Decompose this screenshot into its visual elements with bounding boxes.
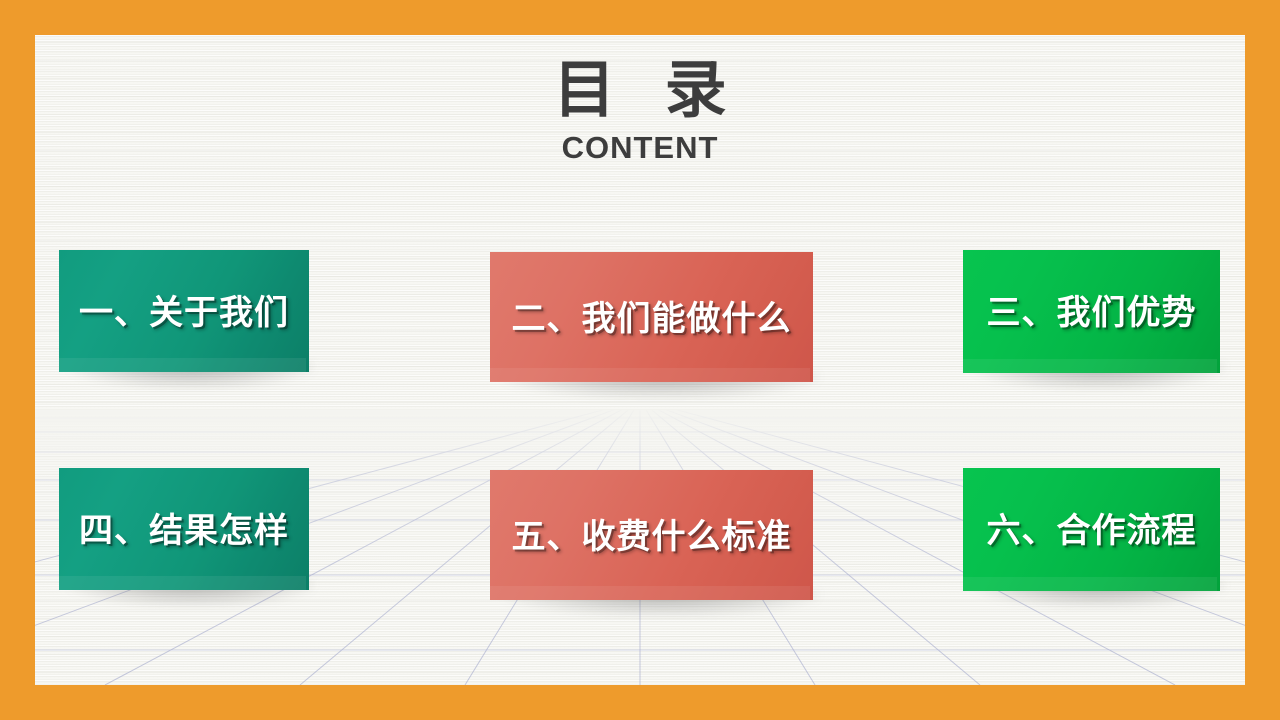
toc-item-6-ledge <box>963 577 1217 591</box>
toc-item-3-ledge <box>963 359 1217 373</box>
toc-item-4[interactable]: 四、结果怎样 <box>59 468 309 590</box>
toc-item-4-ledge <box>59 576 306 590</box>
toc-item-3-face: 三、我们优势 <box>963 250 1220 373</box>
toc-item-2[interactable]: 二、我们能做什么 <box>490 252 813 382</box>
toc-item-1-label: 一、关于我们 <box>79 285 289 334</box>
toc-item-6[interactable]: 六、合作流程 <box>963 468 1220 591</box>
toc-item-2-face: 二、我们能做什么 <box>490 252 813 382</box>
toc-item-6-label: 六、合作流程 <box>987 503 1197 552</box>
toc-item-4-label: 四、结果怎样 <box>79 503 289 552</box>
title-block: 目 录 CONTENT <box>35 55 1245 166</box>
toc-item-1[interactable]: 一、关于我们 <box>59 250 309 372</box>
page-subtitle: CONTENT <box>35 130 1245 166</box>
toc-item-1-face: 一、关于我们 <box>59 250 309 372</box>
toc-item-5-ledge <box>490 586 810 600</box>
slide-root: 目 录 CONTENT 一、关于我们 二、我们能做什么 三、我们优势 <box>0 0 1280 720</box>
toc-item-1-ledge <box>59 358 306 372</box>
toc-item-5[interactable]: 五、收费什么标准 <box>490 470 813 600</box>
toc-item-5-label: 五、收费什么标准 <box>512 509 792 558</box>
toc-item-3[interactable]: 三、我们优势 <box>963 250 1220 373</box>
toc-item-3-label: 三、我们优势 <box>987 285 1197 334</box>
toc-item-6-face: 六、合作流程 <box>963 468 1220 591</box>
page-title: 目 录 <box>35 55 1245 126</box>
toc-item-5-face: 五、收费什么标准 <box>490 470 813 600</box>
toc-item-4-face: 四、结果怎样 <box>59 468 309 590</box>
slide-canvas: 目 录 CONTENT 一、关于我们 二、我们能做什么 三、我们优势 <box>35 35 1245 685</box>
toc-item-2-label: 二、我们能做什么 <box>512 291 792 340</box>
toc-item-2-ledge <box>490 368 810 382</box>
